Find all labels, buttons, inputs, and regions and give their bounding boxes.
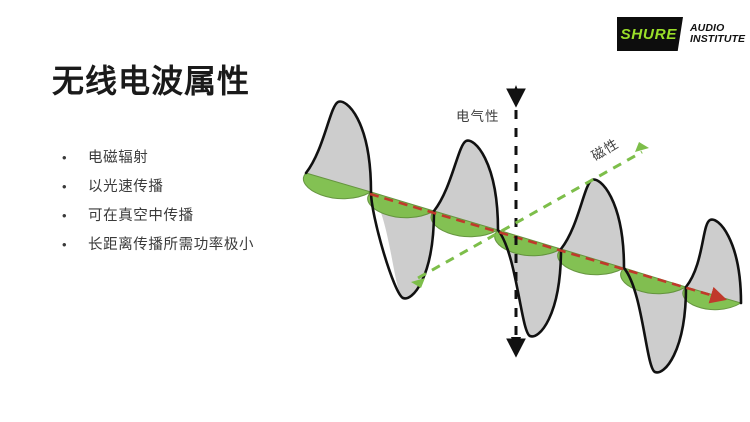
shure-wordmark: SHURE [621,26,678,43]
list-item: • 可在真空中传播 [58,204,254,233]
bullet-marker-icon: • [58,150,88,165]
electric-axis-label: 电气性 [456,105,500,125]
bullet-list: • 电磁辐射 • 以光速传播 • 可在真空中传播 • 长距离传播所需功率极小 [58,146,254,262]
page-title: 无线电波属性 [52,56,250,102]
list-item-label: 长距离传播所需功率极小 [88,233,254,254]
wave-illustration [286,60,750,380]
list-item-label: 以光速传播 [88,175,164,196]
list-item-label: 电磁辐射 [88,146,148,167]
list-item-label: 可在真空中传播 [88,204,194,225]
logo-subtitle: AUDIO INSTITUTE [690,23,745,46]
shure-audio-institute-logo: SHURE AUDIO INSTITUTE [617,17,745,51]
bullet-marker-icon: • [58,208,88,223]
list-item: • 以光速传播 [58,175,254,204]
bullet-marker-icon: • [58,237,88,252]
bullet-marker-icon: • [58,179,88,194]
electromagnetic-wave-diagram: 电气性 磁性 [286,60,750,380]
electric-field-lobes [306,102,741,373]
logo-subtitle-line2: INSTITUTE [690,34,745,45]
list-item: • 长距离传播所需功率极小 [58,233,254,262]
shure-logo-badge: SHURE [617,17,683,51]
list-item: • 电磁辐射 [58,146,254,175]
slide-canvas: SHURE AUDIO INSTITUTE 无线电波属性 • 电磁辐射 • 以光… [0,0,750,422]
